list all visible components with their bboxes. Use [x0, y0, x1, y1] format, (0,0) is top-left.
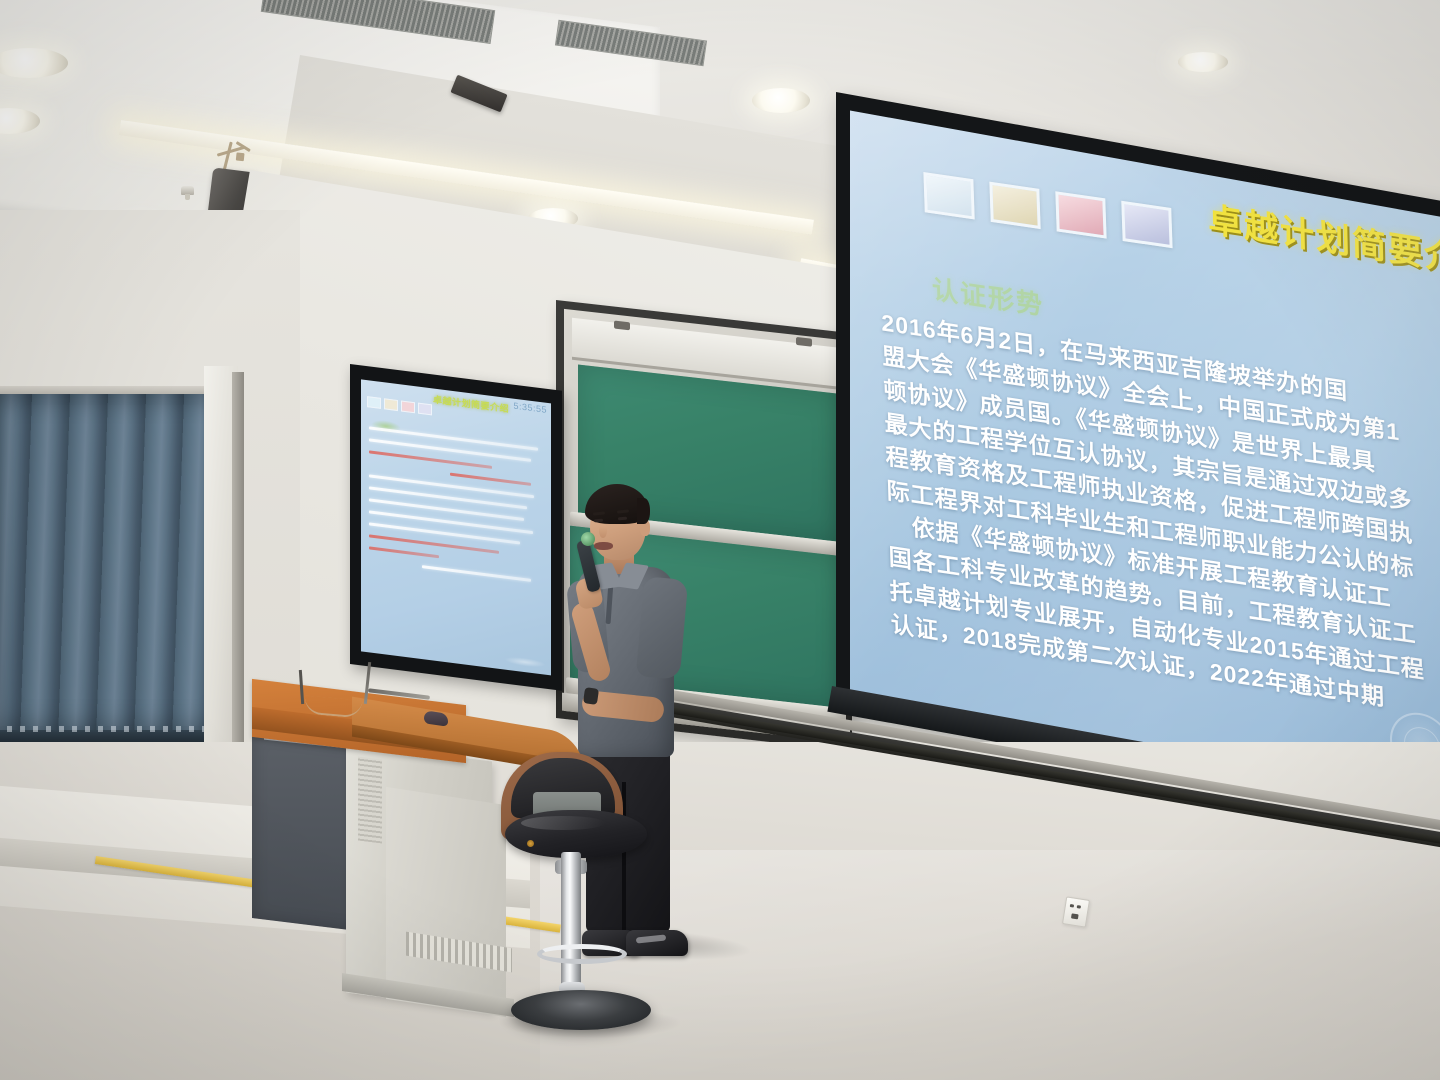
lectern-side-louver-vent [358, 757, 382, 844]
slide-thumbnail [1121, 201, 1172, 248]
secondary-slide-body [369, 426, 545, 658]
lecture-hall-scene: 卓越计划简要介绍 5:35:55 [0, 0, 1440, 1080]
window-curtain[interactable] [0, 394, 230, 742]
blackboard-clip [796, 337, 812, 347]
blackboard-clip [614, 321, 630, 331]
slide-thumbnail [384, 398, 398, 411]
slide-body-text: 2016年6月2日，在马来西亚吉隆坡举办的国 盟大会《华盛顿协议》全会上，中国正… [881, 306, 1440, 736]
stool-footrest-ring [537, 944, 627, 964]
slide-thumbnail [989, 182, 1040, 229]
slide-thumbnail [418, 403, 432, 416]
slide-thumbnail [1055, 191, 1106, 238]
slide-thumbnail-strip [923, 172, 1172, 248]
secondary-slide-title: 卓越计划简要介绍 [433, 392, 509, 415]
presenter-sleeve-right [636, 576, 689, 679]
slide-thumbnail [923, 172, 974, 219]
recessed-downlight [1178, 52, 1228, 72]
secondary-screen-clock: 5:35:55 [513, 401, 547, 415]
stool-seat-highlight [521, 816, 605, 830]
slide-section-heading: 认证形势 [931, 269, 1044, 322]
bar-stool[interactable] [495, 752, 665, 1040]
stool-gas-lift-post [561, 852, 581, 1000]
slide-thumbnail [401, 400, 415, 413]
presenter-mouth [594, 542, 613, 550]
secondary-screen-display: 卓越计划简要介绍 5:35:55 [361, 379, 551, 675]
pillar-shadow-edge [232, 372, 244, 746]
fire-sprinkler-icon [181, 186, 194, 195]
stool-fixing-screw [527, 840, 534, 847]
wall-power-outlet-icon[interactable] [1062, 896, 1090, 927]
secondary-projection-screen[interactable]: 卓越计划简要介绍 5:35:55 [350, 364, 562, 691]
stool-base-disc [511, 990, 651, 1030]
slide-title: 卓越计划简要介绍 [1208, 192, 1440, 287]
presenter-nose [599, 524, 607, 538]
recessed-downlight [752, 88, 810, 113]
slide-thumbnail [367, 396, 381, 409]
polo-collar [594, 564, 646, 590]
